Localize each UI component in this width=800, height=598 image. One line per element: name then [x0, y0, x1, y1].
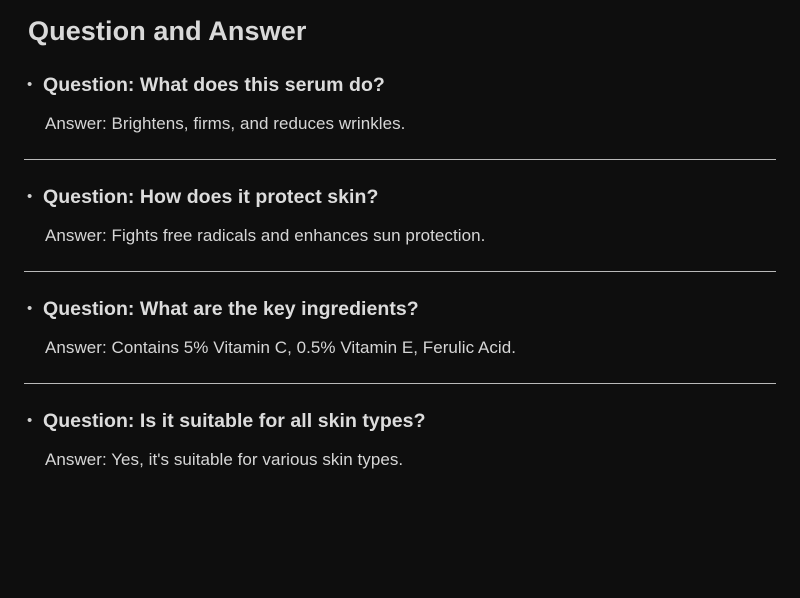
bullet-icon: • — [24, 408, 43, 434]
question-row: • Question: Is it suitable for all skin … — [24, 384, 776, 434]
list-item: • Question: How does it protect skin? An… — [24, 160, 776, 272]
question-text: Question: How does it protect skin? — [43, 184, 776, 210]
question-row: • Question: What are the key ingredients… — [24, 272, 776, 322]
list-item: • Question: What are the key ingredients… — [24, 272, 776, 384]
bullet-icon: • — [24, 72, 43, 98]
question-text: Question: What are the key ingredients? — [43, 296, 776, 322]
question-text: Question: What does this serum do? — [43, 72, 776, 98]
answer-text: Answer: Yes, it's suitable for various s… — [24, 434, 776, 495]
bullet-icon: • — [24, 184, 43, 210]
page-title: Question and Answer — [24, 14, 776, 48]
question-text: Question: Is it suitable for all skin ty… — [43, 408, 776, 434]
question-and-answer-panel: Question and Answer • Question: What doe… — [0, 0, 800, 598]
question-row: • Question: What does this serum do? — [24, 48, 776, 98]
list-item: • Question: What does this serum do? Ans… — [24, 48, 776, 160]
question-row: • Question: How does it protect skin? — [24, 160, 776, 210]
qa-list: • Question: What does this serum do? Ans… — [24, 48, 776, 495]
answer-text: Answer: Contains 5% Vitamin C, 0.5% Vita… — [24, 322, 776, 383]
bullet-icon: • — [24, 296, 43, 322]
answer-text: Answer: Fights free radicals and enhance… — [24, 210, 776, 271]
answer-text: Answer: Brightens, firms, and reduces wr… — [24, 98, 776, 159]
list-item: • Question: Is it suitable for all skin … — [24, 384, 776, 495]
